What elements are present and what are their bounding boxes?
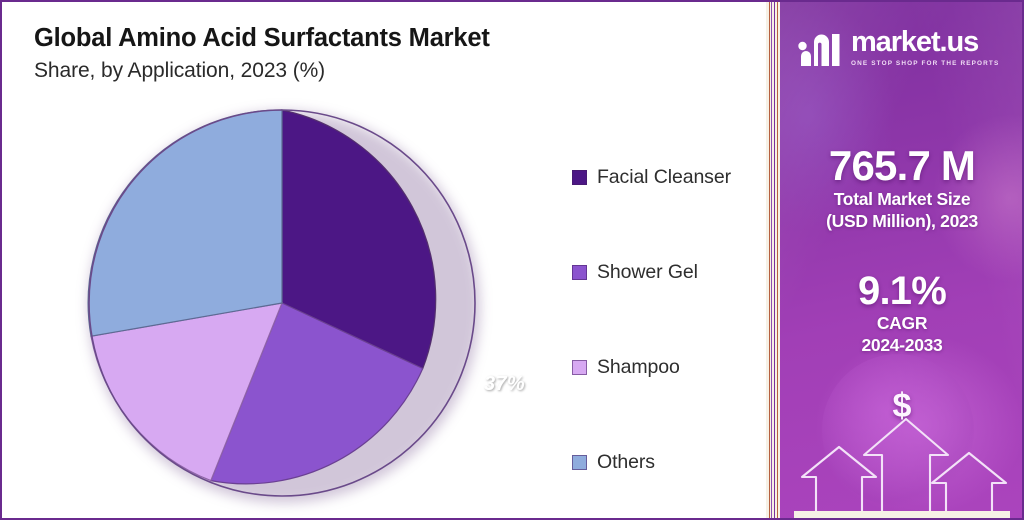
stat-market-size: 765.7 M Total Market Size (USD Million),… <box>780 144 1024 233</box>
stat-caption-line-2: (USD Million), 2023 <box>780 210 1024 232</box>
legend-swatch-icon <box>572 170 587 185</box>
stat-value: 9.1% <box>780 270 1024 312</box>
growth-arrows-graphic: $ <box>794 383 1010 518</box>
logo-wordmark: market.us <box>851 28 999 57</box>
stat-cagr: 9.1% CAGR 2024-2033 <box>780 270 1024 357</box>
pie-chart: 37% <box>84 105 480 501</box>
logo-tagline: ONE STOP SHOP FOR THE REPORTS <box>851 60 999 67</box>
chart-panel: Global Amino Acid Surfactants Market Sha… <box>0 0 766 520</box>
stat-value: 765.7 M <box>780 144 1024 188</box>
legend-item-others[interactable]: Others <box>572 415 762 510</box>
pie-slice-label-facial-cleanser: 37% <box>484 373 525 396</box>
arrow-up-left-icon <box>802 447 876 518</box>
logo-text-block: market.us ONE STOP SHOP FOR THE REPORTS <box>851 28 999 67</box>
chart-heading-group: Global Amino Acid Surfactants Market Sha… <box>34 24 490 83</box>
stat-caption-line-2: 2024-2033 <box>780 334 1024 356</box>
infographic-root: Global Amino Acid Surfactants Market Sha… <box>0 0 1024 520</box>
legend-label: Facial Cleanser <box>597 166 731 189</box>
legend-item-facial-cleanser[interactable]: Facial Cleanser <box>572 130 762 225</box>
arrows-baseline <box>794 511 1010 518</box>
legend-label: Others <box>597 451 655 474</box>
stat-caption-line-1: Total Market Size <box>780 188 1024 210</box>
arrow-up-right-icon <box>932 453 1006 518</box>
arrow-up-center-icon <box>864 419 948 518</box>
market-us-logo-icon <box>796 26 842 68</box>
legend-item-shower-gel[interactable]: Shower Gel <box>572 225 762 320</box>
legend-swatch-icon <box>572 265 587 280</box>
divider-line <box>769 2 770 518</box>
divider-line <box>771 2 772 518</box>
legend-label: Shampoo <box>597 356 680 379</box>
legend-item-shampoo[interactable]: Shampoo <box>572 320 762 415</box>
stats-panel: market.us ONE STOP SHOP FOR THE REPORTS … <box>780 0 1024 520</box>
page-title: Global Amino Acid Surfactants Market <box>34 24 490 53</box>
pie-chart-svg <box>84 105 480 501</box>
page-subtitle: Share, by Application, 2023 (%) <box>34 59 490 83</box>
pie-slice-others[interactable] <box>88 110 282 336</box>
stat-caption-line-1: CAGR <box>780 312 1024 334</box>
divider-line <box>774 2 775 518</box>
panel-divider <box>766 0 780 520</box>
growth-arrows-svg <box>794 383 1010 518</box>
pie-slices <box>88 110 436 484</box>
legend-label: Shower Gel <box>597 261 698 284</box>
brand-logo[interactable]: market.us ONE STOP SHOP FOR THE REPORTS <box>796 26 999 68</box>
chart-legend: Facial Cleanser Shower Gel Shampoo Other… <box>572 130 762 510</box>
divider-line <box>777 2 778 518</box>
legend-swatch-icon <box>572 455 587 470</box>
legend-swatch-icon <box>572 360 587 375</box>
